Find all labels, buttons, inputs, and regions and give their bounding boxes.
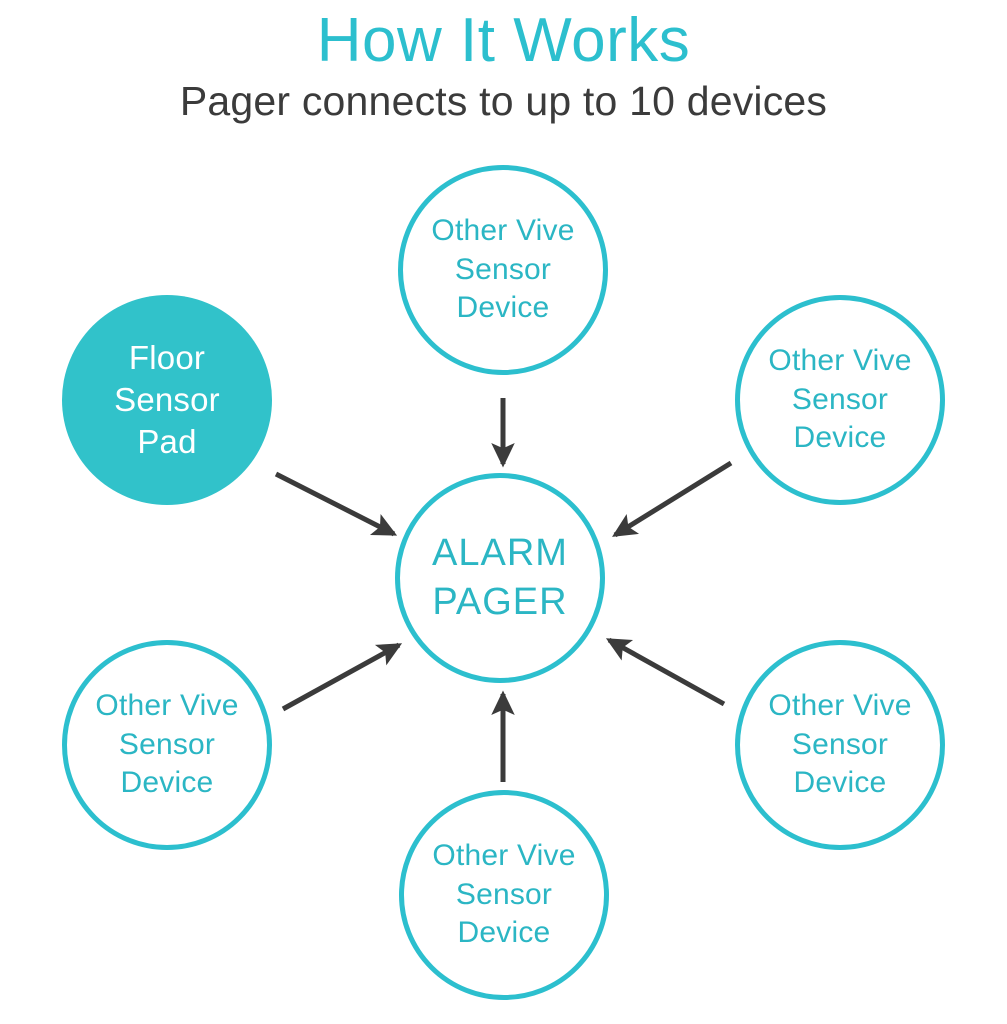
node-floor-sensor-pad[interactable]: Floor Sensor Pad bbox=[62, 295, 272, 505]
node-label: Other Vive Sensor Device bbox=[431, 212, 574, 327]
node-other-vive-sensor-device-right-bottom[interactable]: Other Vive Sensor Device bbox=[735, 640, 945, 850]
node-other-vive-sensor-device-top[interactable]: Other Vive Sensor Device bbox=[398, 165, 608, 375]
node-label: Other Vive Sensor Device bbox=[432, 837, 575, 952]
node-label: Floor Sensor Pad bbox=[114, 337, 220, 464]
connection-arrow bbox=[283, 645, 399, 709]
node-other-vive-sensor-device-left-bottom[interactable]: Other Vive Sensor Device bbox=[62, 640, 272, 850]
node-other-vive-sensor-device-bottom[interactable]: Other Vive Sensor Device bbox=[399, 790, 609, 1000]
node-label: Other Vive Sensor Device bbox=[768, 687, 911, 802]
connection-arrow bbox=[615, 463, 731, 535]
connection-arrow bbox=[276, 474, 394, 534]
node-other-vive-sensor-device-right-top[interactable]: Other Vive Sensor Device bbox=[735, 295, 945, 505]
node-alarm-pager[interactable]: ALARM PAGER bbox=[395, 473, 605, 683]
node-label: ALARM PAGER bbox=[432, 529, 568, 626]
connection-arrow bbox=[609, 640, 724, 704]
how-it-works-infographic: How It Works Pager connects to up to 10 … bbox=[0, 0, 1007, 1024]
node-label: Other Vive Sensor Device bbox=[95, 687, 238, 802]
node-label: Other Vive Sensor Device bbox=[768, 342, 911, 457]
